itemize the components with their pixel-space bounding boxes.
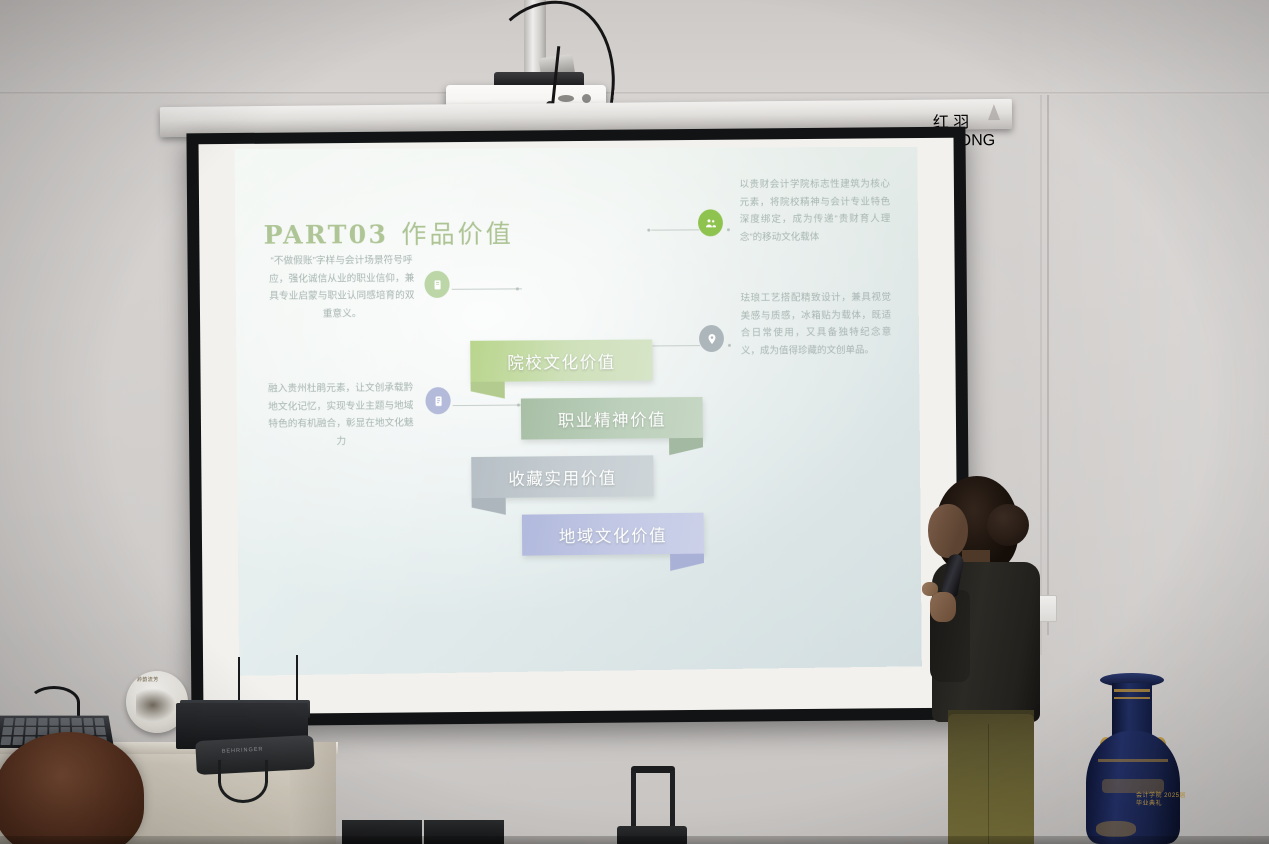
value-banner-1-label: 院校文化价值	[470, 348, 652, 373]
slide-paragraph-right-top: 以贵财会计学院标志性建筑为核心元素，将院校精神与会计专业特色深度绑定，成为传递“…	[739, 176, 890, 247]
screenshot-root: 红 羽 A HONG YU PART03 作品价值 院校文化价值	[0, 0, 1269, 844]
connector-line	[453, 404, 523, 406]
suitcase-handle[interactable]	[631, 766, 675, 828]
presenter-hand	[930, 592, 956, 622]
slide-title: PART03 作品价值	[263, 214, 513, 251]
presenter-hair-bun	[987, 504, 1029, 546]
plate-artwork	[136, 687, 178, 723]
banner-tail	[472, 498, 506, 515]
mixer-cable	[28, 686, 80, 719]
bag-handle[interactable]	[218, 760, 268, 803]
banner-tail	[669, 438, 703, 455]
antenna-right	[296, 655, 298, 701]
group-people-icon	[698, 209, 723, 236]
slide-paragraph-left-bottom: 融入贵州杜鹃元素，让文创承载黔地文化记忆，实现专业主题与地域特色的有机融合，彰显…	[265, 379, 417, 452]
plate-inscription: 黔韵流芳	[137, 676, 159, 683]
presenter-hand-secondary	[922, 582, 938, 596]
slide-title-english: PART03	[263, 220, 388, 250]
connector-dot	[516, 287, 519, 290]
location-pin-icon	[699, 325, 724, 352]
vase-body	[1086, 731, 1180, 844]
slide-paragraph-left-top: “不做假账”字样与会计场景符号呼应，强化诚信从业的职业信仰，兼具专业启蒙与职业认…	[266, 252, 418, 324]
slide-title-chinese: 作品价值	[401, 214, 514, 251]
presenter	[908, 462, 1056, 844]
connector-dot	[728, 344, 731, 347]
presenter-trousers	[948, 714, 1034, 844]
banner-tail	[670, 554, 704, 571]
connector-dot	[647, 229, 650, 232]
antenna-left	[238, 657, 240, 703]
value-banner-4[interactable]: 地域文化价值	[522, 513, 704, 556]
screen-pull-tab[interactable]	[988, 104, 1000, 120]
banner-tail	[471, 382, 505, 399]
value-banner-3-label: 收藏实用价值	[471, 464, 653, 490]
connector-line	[452, 288, 522, 289]
value-banner-1[interactable]: 院校文化价值	[470, 339, 652, 381]
blue-porcelain-vase: 会计学院 2025届 毕业典礼	[1078, 665, 1188, 844]
value-banner-2-label: 职业精神价值	[521, 405, 703, 431]
badge-icon	[424, 271, 449, 298]
connector-dot	[517, 404, 520, 407]
value-banner-2[interactable]: 职业精神价值	[521, 397, 703, 440]
bag-brand-text: BEHRINGER	[222, 747, 264, 755]
connector-dot	[727, 228, 730, 231]
connector-line	[651, 229, 699, 230]
value-banner-3[interactable]: 收藏实用价值	[471, 455, 653, 498]
connector-line	[652, 345, 700, 346]
projected-slide: PART03 作品价值 院校文化价值 职业精神价值 收藏实用价值 地域文化价值	[235, 147, 922, 676]
floor-shadow	[0, 836, 1269, 844]
slide-paragraph-right-bottom: 珐琅工艺搭配精致设计，兼具视觉美感与质感，冰箱贴为载体，既适合日常使用，又具备独…	[740, 289, 891, 361]
document-icon	[425, 387, 450, 414]
value-banner-4-label: 地域文化价值	[522, 521, 704, 547]
vase-inscription: 会计学院 2025届 毕业典礼	[1136, 793, 1188, 808]
